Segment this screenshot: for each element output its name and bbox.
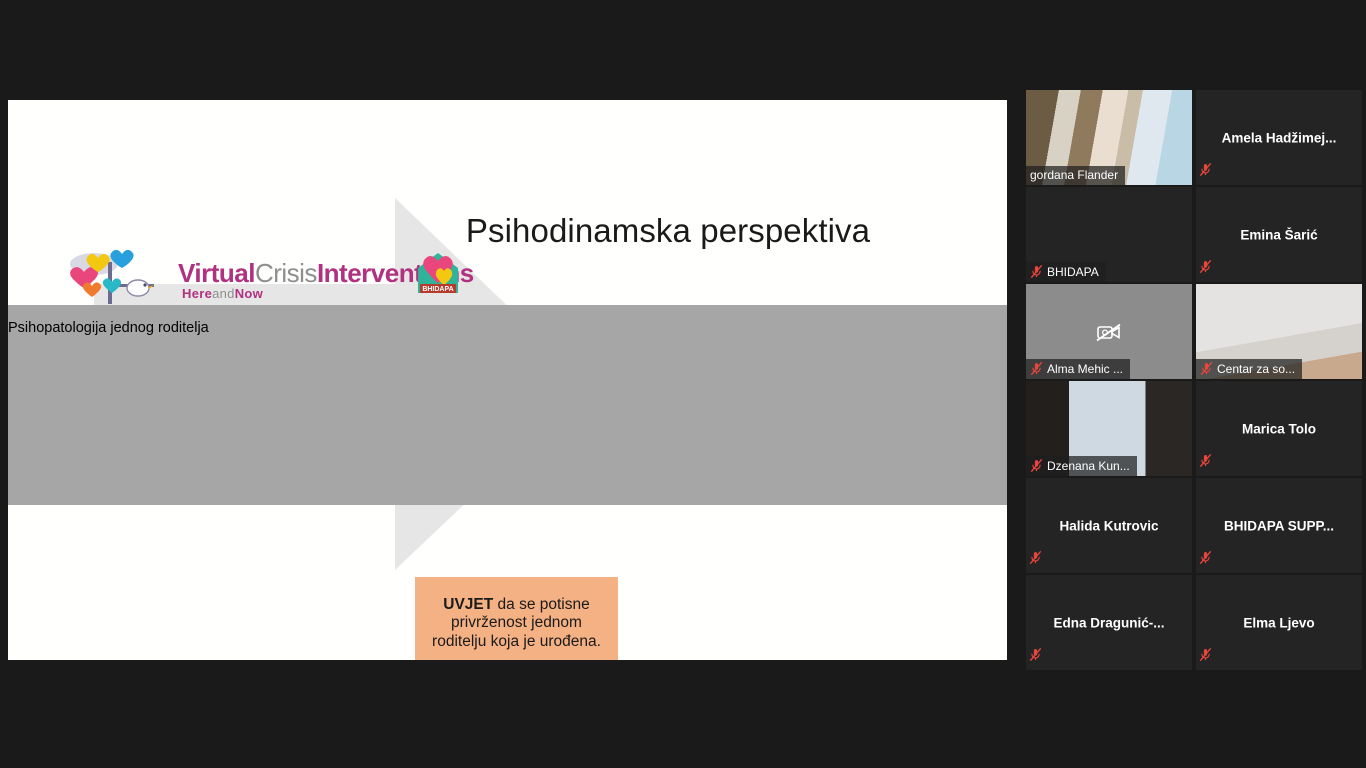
participant-tile[interactable]: Dzenana Kun...	[1026, 381, 1192, 476]
mic-status	[1029, 647, 1042, 667]
participant-name: Dzenana Kun...	[1047, 459, 1130, 473]
mic-status	[1029, 550, 1042, 570]
participant-name: Emina Šarić	[1196, 227, 1362, 242]
logo-tagline-and: and	[212, 286, 235, 301]
participant-name: BHIDAPA SUPP...	[1196, 518, 1362, 533]
participant-tile[interactable]: gordana Flander	[1026, 90, 1192, 185]
participant-name-bar: Centar za so...	[1196, 359, 1302, 379]
logo-tagline: HereandNow	[182, 286, 263, 301]
mic-muted-icon	[1199, 259, 1212, 274]
slide-title: Psihodinamska perspektiva	[338, 212, 998, 250]
logo-tagline-now: Now	[235, 286, 263, 301]
participant-tile[interactable]: Elma Ljevo	[1196, 575, 1362, 670]
mic-muted-icon	[1199, 550, 1212, 565]
participant-name: Edna Dragunić-...	[1026, 615, 1192, 630]
svg-text:BHIDAPA: BHIDAPA	[422, 286, 453, 293]
mic-status	[1199, 647, 1212, 667]
participant-name-bar: Alma Mehic ...	[1026, 359, 1130, 379]
process-box-line: Psihopatologija jednog roditelja	[8, 320, 1007, 336]
participant-name: Centar za so...	[1217, 362, 1295, 376]
participant-name: Elma Ljevo	[1196, 615, 1362, 630]
participant-name-bar: gordana Flander	[1026, 166, 1125, 185]
participant-name-bar: Dzenana Kun...	[1026, 456, 1137, 476]
participant-name: Alma Mehic ...	[1047, 362, 1123, 376]
mic-muted-icon	[1030, 361, 1043, 376]
participant-name: BHIDAPA	[1047, 265, 1099, 279]
mic-muted-icon	[1199, 453, 1212, 468]
participant-tile[interactable]: Alma Mehic ...	[1026, 284, 1192, 379]
camera-off-icon	[1096, 322, 1122, 342]
mic-muted-icon	[1200, 361, 1213, 376]
mic-status	[1199, 162, 1212, 182]
logo-part-crisis: Crisis	[255, 258, 317, 288]
participant-tile[interactable]: BHIDAPA	[1026, 187, 1192, 282]
mic-status	[1199, 550, 1212, 570]
callout-text: UVJET da se potisne privrženost jednom r…	[423, 596, 610, 652]
mic-muted-icon	[1030, 264, 1043, 279]
logo-part-virtual: Virtual	[178, 258, 255, 288]
logo-tagline-here: Here	[182, 286, 212, 301]
participant-tile[interactable]: Marica Tolo	[1196, 381, 1362, 476]
participant-name-bar: BHIDAPA	[1026, 262, 1106, 282]
participant-name: gordana Flander	[1030, 168, 1118, 182]
participant-tile[interactable]: Edna Dragunić-...	[1026, 575, 1192, 670]
participant-grid: gordana FlanderAmela Hadžimej...BHIDAPAE…	[1026, 90, 1366, 675]
bhidapa-house-icon: BHIDAPA	[416, 251, 460, 295]
callout-bold-word: UVJET	[443, 596, 493, 613]
participant-tile[interactable]: Halida Kutrovic	[1026, 478, 1192, 573]
mic-muted-icon	[1030, 458, 1043, 473]
mic-muted-icon	[1029, 550, 1042, 565]
mic-muted-icon	[1199, 647, 1212, 662]
callout-uvjet[interactable]: UVJET da se potisne privrženost jednom r…	[415, 577, 618, 660]
participant-tile[interactable]: BHIDAPA SUPP...	[1196, 478, 1362, 573]
participant-name: Marica Tolo	[1196, 421, 1362, 436]
mic-muted-icon	[1199, 162, 1212, 177]
participant-name: Amela Hadžimej...	[1196, 130, 1362, 145]
mic-status	[1199, 259, 1212, 279]
participant-tile[interactable]: Emina Šarić	[1196, 187, 1362, 282]
presentation-slide[interactable]: Psihodinamska perspektiva VirtualCrisisI…	[8, 100, 1007, 660]
participant-tile[interactable]: Amela Hadžimej...	[1196, 90, 1362, 185]
participant-tile[interactable]: Centar za so...	[1196, 284, 1362, 379]
mic-status	[1199, 453, 1212, 473]
participant-name: Halida Kutrovic	[1026, 518, 1192, 533]
mic-muted-icon	[1029, 647, 1042, 662]
tree-logo-icon	[64, 248, 194, 304]
process-box-row: Psihopatologija jednog roditelja	[8, 305, 1007, 505]
virtual-crisis-interventions-logo: VirtualCrisisInterventions HereandNow BH…	[58, 248, 418, 306]
